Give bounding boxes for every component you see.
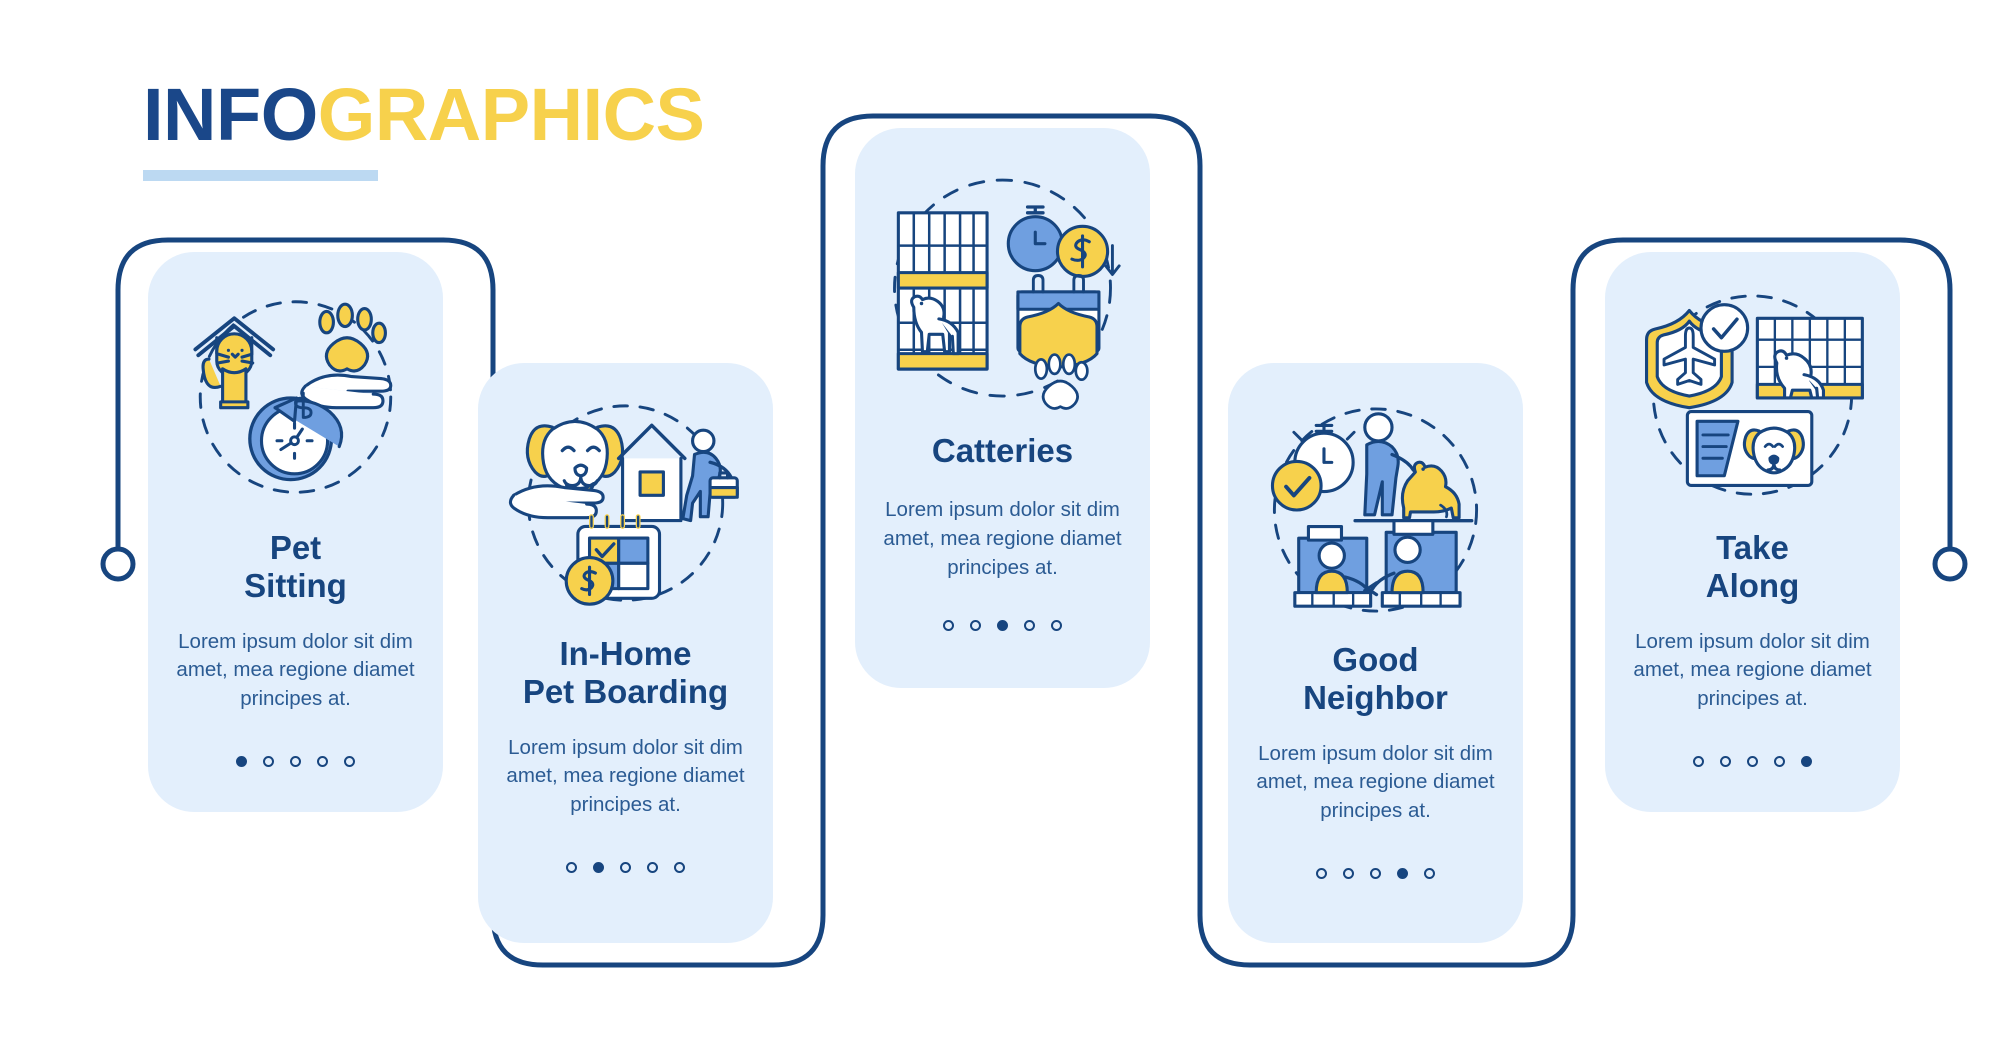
pagination-dot-3[interactable] bbox=[997, 620, 1008, 631]
cage-stopwatch-coin-calendar-paw-shield-icon bbox=[881, 164, 1124, 414]
card-body-text: Lorem ipsum dolor sit dim amet, mea regi… bbox=[1254, 740, 1497, 826]
card-pet-sitting[interactable]: Pet Sitting Lorem ipsum dolor sit dim am… bbox=[148, 252, 443, 812]
clock-check-person-dog-neighbors-fence-icon bbox=[1254, 399, 1497, 621]
page-title-part-info: INFO bbox=[143, 73, 318, 156]
card-title: Pet Sitting bbox=[244, 529, 347, 606]
pagination-dots[interactable] bbox=[566, 862, 685, 873]
pagination-dot-4[interactable] bbox=[1397, 868, 1408, 879]
pagination-dot-4[interactable] bbox=[1024, 620, 1035, 631]
pagination-dot-4[interactable] bbox=[1774, 756, 1785, 767]
connector-end-node bbox=[1935, 549, 1965, 579]
pagination-dot-5[interactable] bbox=[344, 756, 355, 767]
airplane-shield-check-dog-crate-pet-id-card-icon bbox=[1631, 290, 1874, 505]
dog-in-hands-house-sitter-calendar-coin-icon bbox=[504, 395, 747, 617]
card-body-text: Lorem ipsum dolor sit dim amet, mea regi… bbox=[504, 734, 747, 820]
infographic-canvas: INFOGRAPHICS bbox=[0, 0, 2000, 1059]
pagination-dot-2[interactable] bbox=[263, 756, 274, 767]
pagination-dots[interactable] bbox=[236, 756, 355, 767]
pagination-dot-3[interactable] bbox=[1747, 756, 1758, 767]
card-title-line-1: In-Home bbox=[559, 635, 691, 672]
pagination-dot-5[interactable] bbox=[1801, 756, 1812, 767]
pagination-dots[interactable] bbox=[1316, 868, 1435, 879]
pagination-dot-1[interactable] bbox=[943, 620, 954, 631]
pagination-dot-1[interactable] bbox=[566, 862, 577, 873]
page-title: INFOGRAPHICS bbox=[143, 78, 743, 152]
pagination-dot-2[interactable] bbox=[1720, 756, 1731, 767]
card-title-line-1: Catteries bbox=[932, 432, 1073, 469]
card-title: Catteries bbox=[932, 432, 1073, 470]
pagination-dot-4[interactable] bbox=[647, 862, 658, 873]
card-take-along[interactable]: Take Along Lorem ipsum dolor sit dim ame… bbox=[1605, 252, 1900, 812]
cat-under-roof-paw-hand-clock-dollar-icon bbox=[174, 290, 417, 505]
card-body-text: Lorem ipsum dolor sit dim amet, mea regi… bbox=[881, 496, 1124, 582]
card-title: In-Home Pet Boarding bbox=[523, 635, 728, 712]
pagination-dot-5[interactable] bbox=[1424, 868, 1435, 879]
card-body-text: Lorem ipsum dolor sit dim amet, mea regi… bbox=[174, 628, 417, 714]
card-title: Good Neighbor bbox=[1303, 641, 1448, 718]
pagination-dot-2[interactable] bbox=[970, 620, 981, 631]
card-good-neighbor[interactable]: Good Neighbor Lorem ipsum dolor sit dim … bbox=[1228, 363, 1523, 943]
title-block: INFOGRAPHICS bbox=[143, 78, 743, 181]
pagination-dot-1[interactable] bbox=[1693, 756, 1704, 767]
card-title-line-1: Take bbox=[1716, 529, 1789, 566]
pagination-dot-3[interactable] bbox=[620, 862, 631, 873]
pagination-dot-4[interactable] bbox=[317, 756, 328, 767]
page-title-part-graphics: GRAPHICS bbox=[318, 73, 705, 156]
pagination-dot-2[interactable] bbox=[1343, 868, 1354, 879]
card-body-text: Lorem ipsum dolor sit dim amet, mea regi… bbox=[1631, 628, 1874, 714]
card-catteries[interactable]: Catteries Lorem ipsum dolor sit dim amet… bbox=[855, 128, 1150, 688]
pagination-dots[interactable] bbox=[1693, 756, 1812, 767]
connector-start-node bbox=[103, 549, 133, 579]
card-title: Take Along bbox=[1706, 529, 1799, 606]
card-title-line-2: Neighbor bbox=[1303, 679, 1448, 716]
pagination-dot-5[interactable] bbox=[674, 862, 685, 873]
card-title-line-1: Pet bbox=[270, 529, 321, 566]
pagination-dot-1[interactable] bbox=[1316, 868, 1327, 879]
pagination-dot-5[interactable] bbox=[1051, 620, 1062, 631]
connector-segment-right bbox=[1900, 240, 1950, 549]
pagination-dot-3[interactable] bbox=[1370, 868, 1381, 879]
card-in-home-pet-boarding[interactable]: In-Home Pet Boarding Lorem ipsum dolor s… bbox=[478, 363, 773, 943]
pagination-dot-3[interactable] bbox=[290, 756, 301, 767]
card-title-line-1: Good bbox=[1332, 641, 1418, 678]
card-title-line-2: Along bbox=[1706, 567, 1799, 604]
title-underline bbox=[143, 170, 378, 181]
pagination-dot-2[interactable] bbox=[593, 862, 604, 873]
pagination-dot-1[interactable] bbox=[236, 756, 247, 767]
pagination-dots[interactable] bbox=[943, 620, 1062, 631]
card-title-line-2: Pet Boarding bbox=[523, 673, 728, 710]
card-title-line-2: Sitting bbox=[244, 567, 347, 604]
